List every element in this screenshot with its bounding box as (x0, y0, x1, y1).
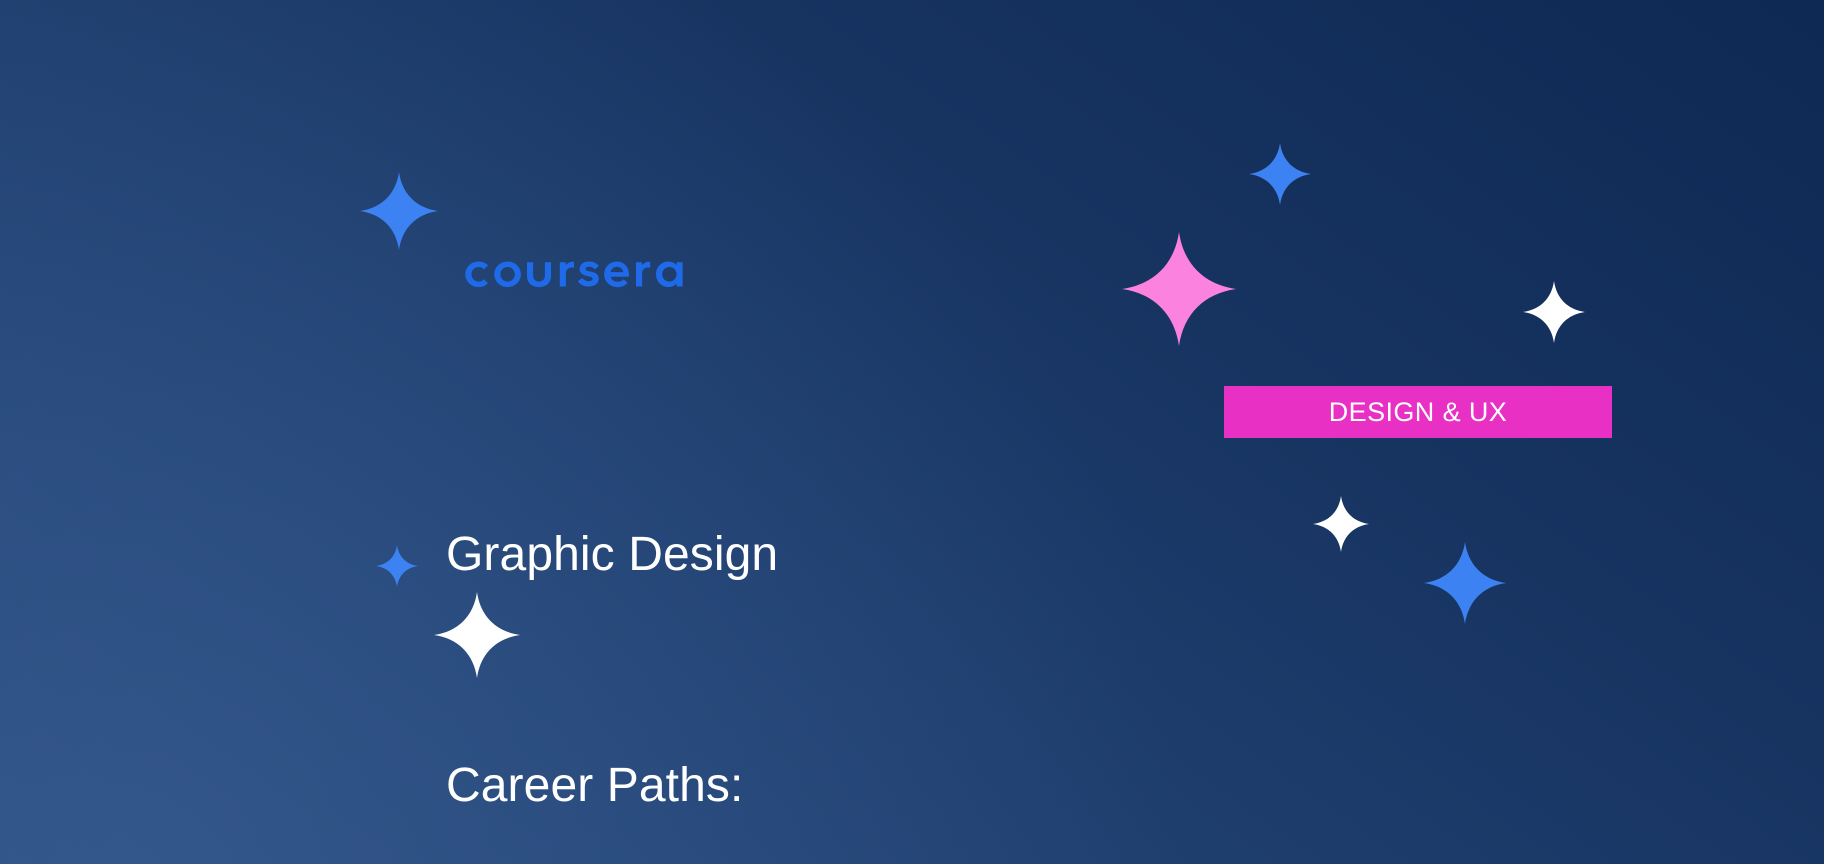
sparkle-blue-bottom-right-icon (1424, 542, 1506, 624)
category-badge-label: DESIGN & UX (1329, 399, 1507, 426)
sparkle-white-right-icon (1523, 281, 1585, 343)
sparkle-white-small-mid-icon (1313, 496, 1369, 552)
title-line-2: Career Paths: (446, 747, 1186, 824)
title-line-1: Graphic Design (446, 516, 1186, 593)
sparkle-blue-top-left-icon (360, 172, 438, 250)
sparkle-blue-small-left-icon (376, 545, 418, 587)
sparkle-pink-large-icon (1122, 232, 1236, 346)
promo-banner: Graphic Design Career Paths: Career Deci… (0, 0, 1824, 864)
banner-content: Graphic Design Career Paths: Career Deci… (0, 0, 1824, 864)
page-title: Graphic Design Career Paths: Career Deci… (446, 362, 1186, 864)
category-badge: DESIGN & UX (1224, 386, 1612, 438)
coursera-logo (458, 250, 704, 296)
sparkle-blue-top-right-icon (1249, 143, 1311, 205)
